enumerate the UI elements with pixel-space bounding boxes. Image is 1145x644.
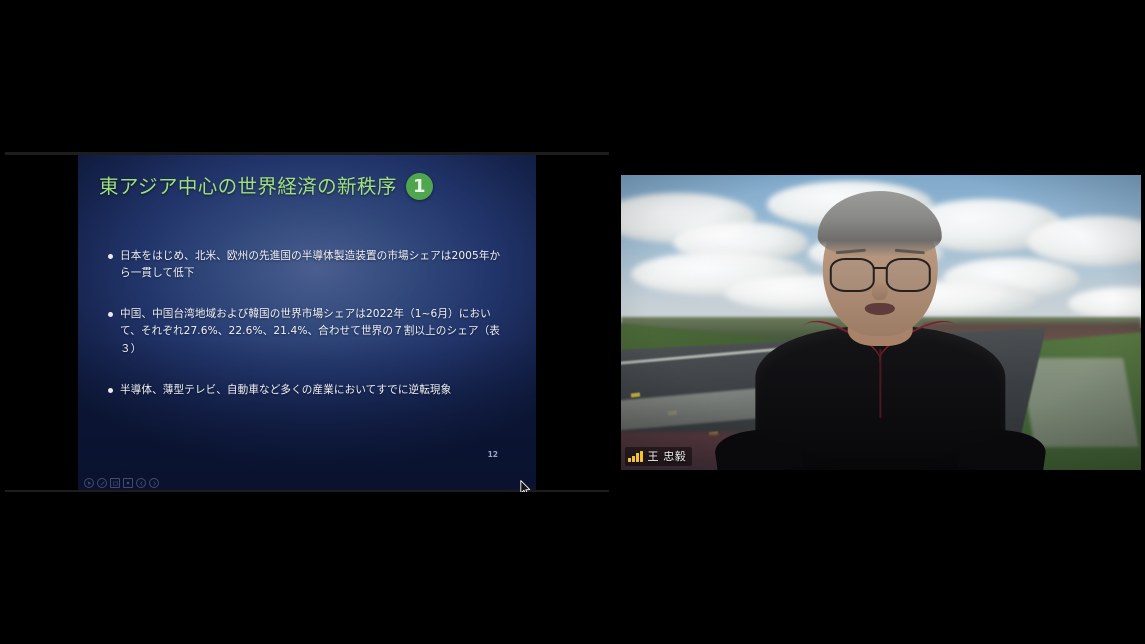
nose [872, 281, 888, 300]
glasses-bridge [873, 267, 887, 269]
bullet-dot-icon [108, 312, 113, 317]
slide-bullet-text: 日本をはじめ、北米、欧州の先進国の半導体製造装置の市場シェアは2005年から一貫… [120, 250, 500, 279]
slide-bullet-text: 半導体、薄型テレビ、自動車など多くの産業においてすでに逆転現象 [120, 384, 451, 396]
virtual-background-path [1019, 358, 1139, 447]
presentation-slide[interactable]: 東アジア中心の世界経済の新秩序 1 日本をはじめ、北米、欧州の先進国の半導体製造… [78, 155, 536, 492]
participant-name: 王 忠毅 [648, 448, 687, 464]
participant-video-tile[interactable]: 王 忠毅 [621, 175, 1141, 470]
slide-title: 東アジア中心の世界経済の新秩序 [99, 177, 397, 197]
prev-slide-icon[interactable] [136, 478, 146, 488]
participant-nameplate: 王 忠毅 [625, 447, 692, 466]
slide-page-number: 12 [488, 450, 498, 459]
slide-bullet-list: 日本をはじめ、北米、欧州の先進国の半導体製造装置の市場シェアは2005年から一貫… [108, 248, 508, 399]
stop-icon[interactable] [123, 478, 133, 488]
letterbox-right [536, 155, 609, 492]
audio-signal-icon [628, 451, 643, 462]
slide-bullet: 日本をはじめ、北米、欧州の先進国の半導体製造装置の市場シェアは2005年から一貫… [108, 248, 508, 282]
slide-number-badge: 1 [406, 173, 433, 200]
bullet-dot-icon [108, 254, 113, 259]
pen-icon[interactable] [97, 478, 107, 488]
glasses-lens-right [885, 258, 930, 291]
slide-bullet: 中国、中国台湾地域および韓国の世界市場シェアは2022年（1~6月）において、そ… [108, 306, 508, 357]
torso [755, 326, 1005, 470]
slide-grid-icon[interactable] [110, 478, 120, 488]
slide-bullet-text: 中国、中国台湾地域および韓国の世界市場シェアは2022年（1~6月）において、そ… [120, 308, 500, 354]
shared-screen-panel[interactable]: 東アジア中心の世界経済の新秩序 1 日本をはじめ、北米、欧州の先進国の半導体製造… [5, 152, 609, 492]
glasses-lens-left [830, 258, 875, 291]
slide-bullet: 半導体、薄型テレビ、自動車など多くの産業においてすでに逆転現象 [108, 382, 508, 399]
bullet-dot-icon [108, 388, 113, 393]
share-frame-bottom-edge [5, 490, 609, 492]
pointer-icon[interactable] [84, 478, 94, 488]
slide-title-row: 東アジア中心の世界経済の新秩序 1 [99, 173, 433, 200]
letterbox-left [5, 155, 78, 492]
mouth [865, 303, 895, 315]
head [823, 197, 938, 336]
shirt-placket [879, 349, 881, 418]
presentation-toolbar[interactable] [84, 478, 159, 488]
app-root: 東アジア中心の世界経済の新秩序 1 日本をはじめ、北米、欧州の先進国の半導体製造… [0, 0, 1145, 644]
participant-figure [755, 222, 1005, 470]
next-slide-icon[interactable] [149, 478, 159, 488]
